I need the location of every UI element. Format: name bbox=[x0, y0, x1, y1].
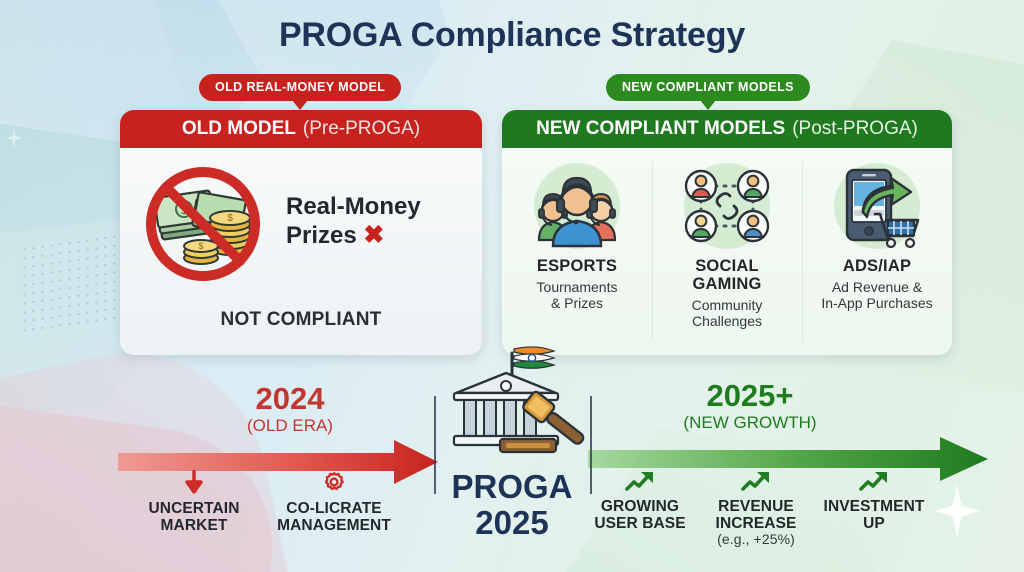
sparkle-icon bbox=[934, 484, 980, 538]
badge-old-label: OLD REAL-MONEY MODEL bbox=[215, 80, 385, 94]
timeline-point-growing-user-base: GROWING USER BASE bbox=[578, 470, 702, 532]
old-model-row: $ $ bbox=[120, 148, 482, 282]
mobile-ads-cart-icon bbox=[825, 160, 929, 252]
trending-up-icon bbox=[694, 470, 818, 496]
social-network-avatars-icon bbox=[675, 160, 779, 252]
new-models-header-sub: (Post-PROGA) bbox=[792, 118, 918, 140]
timeline-point-uncertain-market: UNCERTAIN MARKET bbox=[128, 470, 260, 534]
proga-name: PROGA bbox=[424, 470, 600, 504]
cross-mark-icon: ✖ bbox=[363, 221, 384, 249]
ads-iap-description: Ad Revenue & In-App Purchases bbox=[821, 279, 932, 312]
ads-iap-title: ADS/IAP bbox=[843, 258, 911, 276]
old-era-sub: (OLD ERA) bbox=[170, 417, 410, 434]
infographic-canvas: PROGA Compliance Strategy OLD REAL-MONEY… bbox=[0, 0, 1024, 572]
arrow-down-icon bbox=[128, 470, 260, 498]
svg-text:$: $ bbox=[198, 241, 203, 251]
new-models-header-main: NEW COMPLIANT MODELS bbox=[536, 118, 785, 140]
old-era-year: 2024 bbox=[170, 383, 410, 415]
badge-old-real-money-model: OLD REAL-MONEY MODEL bbox=[199, 74, 401, 101]
model-column-social-gaming[interactable]: SOCIAL GAMING Community Challenges bbox=[652, 148, 802, 355]
social-gaming-description: Community Challenges bbox=[692, 297, 763, 330]
model-column-ads-iap[interactable]: ADS/IAP Ad Revenue & In-App Purchases bbox=[802, 148, 952, 355]
esports-description: Tournaments & Prizes bbox=[537, 279, 618, 312]
timeline-point-investment-up: INVESTMENT UP bbox=[808, 470, 940, 532]
trending-up-icon bbox=[808, 470, 940, 496]
old-model-card-header: OLD MODEL (Pre-PROGA) bbox=[120, 110, 482, 148]
esports-gamers-icon bbox=[525, 160, 629, 252]
badge-new-label: NEW COMPLIANT MODELS bbox=[622, 80, 794, 94]
old-model-header-sub: (Pre-PROGA) bbox=[303, 118, 420, 140]
new-models-card-body: ESPORTS Tournaments & Prizes bbox=[502, 148, 952, 355]
sparkle-small-icon bbox=[6, 128, 22, 148]
revenue-increase-note: (e.g., +25%) bbox=[694, 532, 818, 547]
new-compliant-models-card: NEW COMPLIANT MODELS (Post-PROGA) bbox=[502, 110, 952, 355]
new-models-card-header: NEW COMPLIANT MODELS (Post-PROGA) bbox=[502, 110, 952, 148]
model-column-esports[interactable]: ESPORTS Tournaments & Prizes bbox=[502, 148, 652, 355]
esports-title: ESPORTS bbox=[537, 258, 617, 276]
new-era-label: 2025+ (NEW GROWTH) bbox=[600, 380, 900, 431]
india-flag-courthouse-gavel-icon bbox=[424, 345, 600, 468]
gear-icon bbox=[258, 470, 410, 498]
old-model-card: OLD MODEL (Pre-PROGA) $ bbox=[120, 110, 482, 355]
real-money-prizes-label: Real-Money Prizes ✖ bbox=[286, 193, 421, 251]
new-era-year: 2025+ bbox=[600, 380, 900, 412]
proga-year: 2025 bbox=[424, 506, 600, 540]
page-title: PROGA Compliance Strategy bbox=[0, 16, 1024, 55]
old-model-card-body: $ $ bbox=[120, 148, 482, 355]
real-money-line-2: Prizes ✖ bbox=[286, 221, 421, 251]
svg-text:$: $ bbox=[227, 213, 233, 224]
trending-up-icon bbox=[578, 470, 702, 496]
not-compliant-status: NOT COMPLIANT bbox=[120, 309, 482, 331]
timeline-point-revenue-increase: REVENUE INCREASE (e.g., +25%) bbox=[694, 470, 818, 548]
old-era-label: 2024 (OLD ERA) bbox=[170, 383, 410, 434]
real-money-line-1: Real-Money bbox=[286, 193, 421, 221]
timeline-point-co-licrate-management: CO-LICRATE MANAGEMENT bbox=[258, 470, 410, 534]
old-model-header-main: OLD MODEL bbox=[182, 118, 296, 140]
no-money-icon: $ $ bbox=[138, 162, 276, 282]
proga-center-marker: PROGA 2025 bbox=[424, 345, 600, 539]
new-era-sub: (NEW GROWTH) bbox=[600, 414, 900, 431]
social-gaming-title: SOCIAL GAMING bbox=[692, 258, 761, 294]
badge-new-compliant-models: NEW COMPLIANT MODELS bbox=[606, 74, 810, 101]
